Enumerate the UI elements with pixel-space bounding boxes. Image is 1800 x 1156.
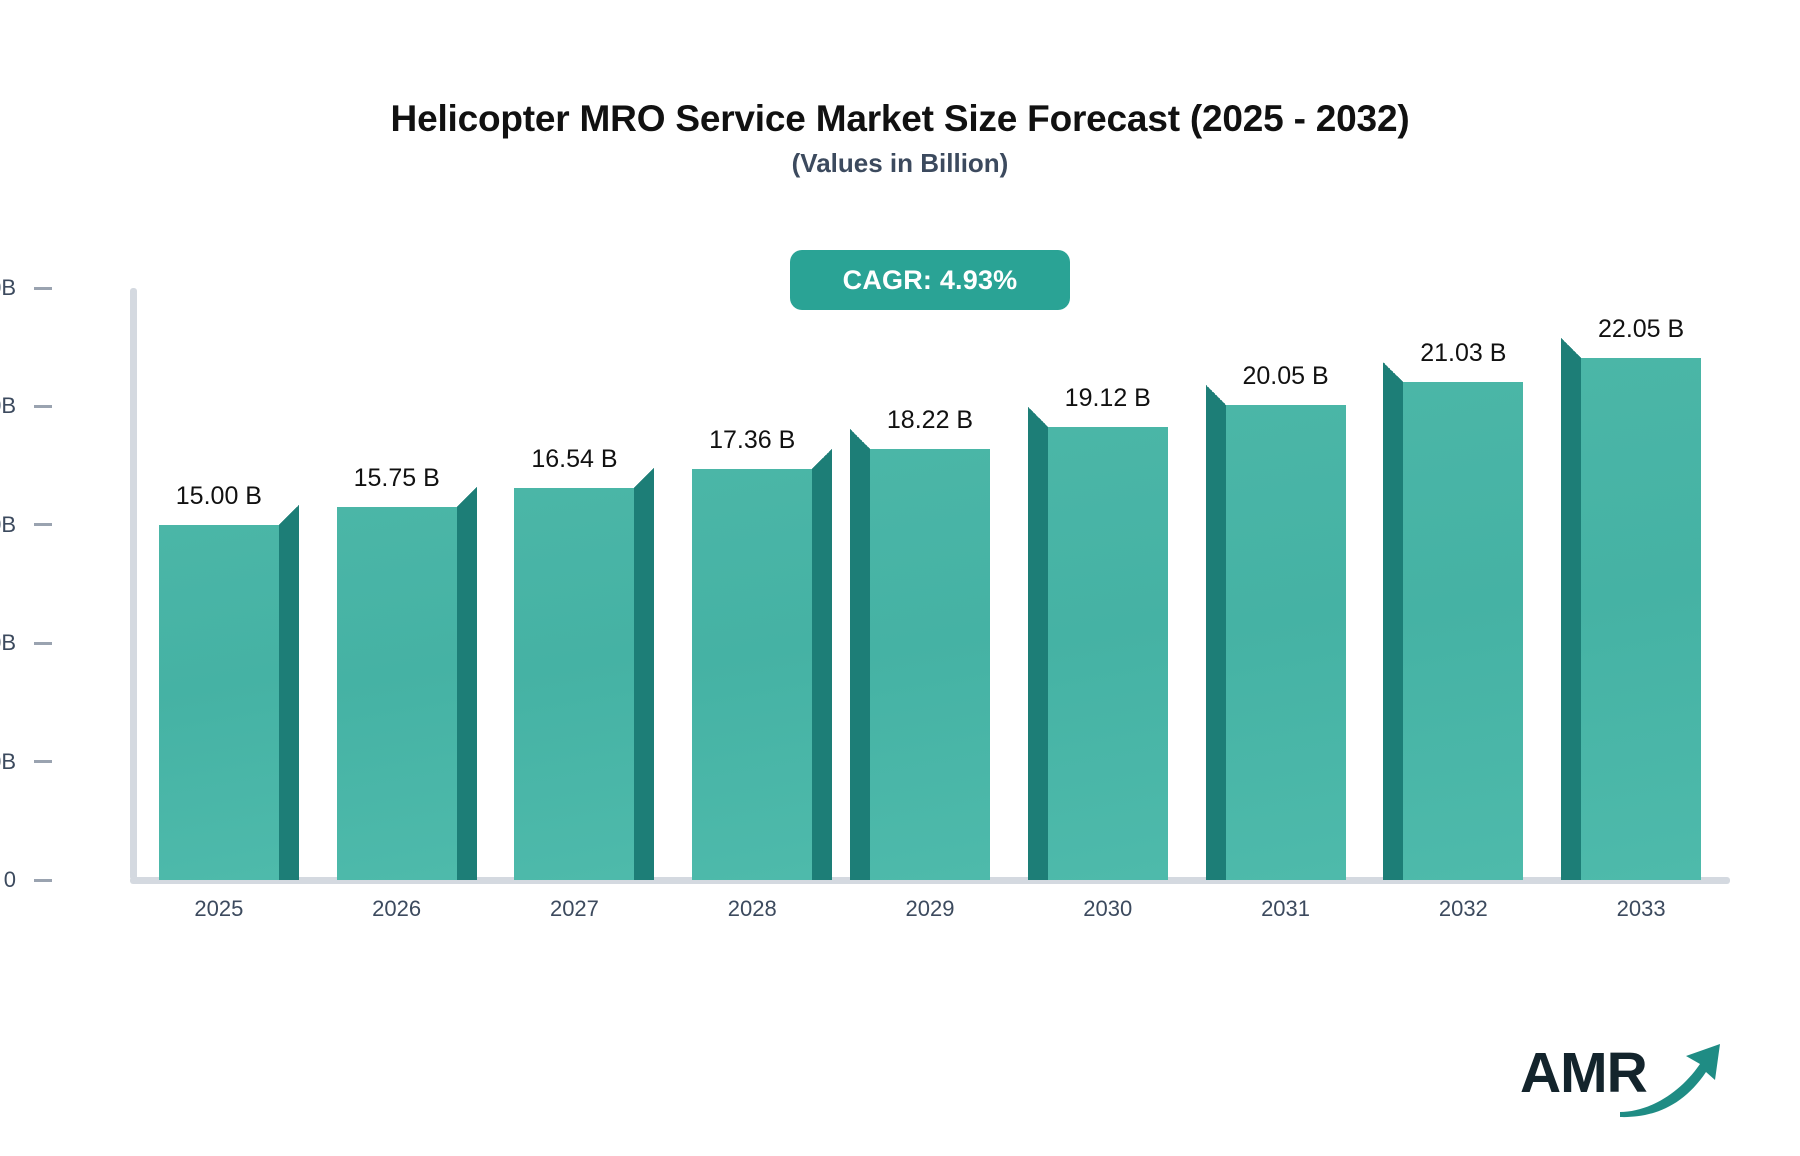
bar-value-label: 15.75 B: [354, 464, 440, 493]
x-axis-tick-label: 2026: [372, 896, 421, 922]
y-axis-tick: 25.0B: [0, 275, 52, 301]
bar[interactable]: 16.54 B: [514, 488, 634, 880]
y-axis-tick-mark: [34, 642, 52, 645]
bar-side-face: [1383, 382, 1403, 880]
bar-side-face: [850, 449, 870, 880]
bar[interactable]: 22.05 B: [1581, 358, 1701, 880]
bar-front-face: [1226, 405, 1346, 880]
bar-front-face: [1048, 427, 1168, 880]
y-axis-tick: 20.0B: [0, 393, 52, 419]
y-axis-tick: 10.0B: [0, 630, 52, 656]
x-axis-tick-label: 2027: [550, 896, 599, 922]
bar[interactable]: 21.03 B: [1403, 382, 1523, 880]
bar-top-bevel: [457, 487, 477, 507]
y-axis-tick-label: 25.0B: [0, 275, 16, 300]
bar-top-bevel: [634, 468, 654, 488]
y-axis-tick-mark: [34, 523, 52, 526]
bar-top-bevel: [1028, 407, 1048, 427]
bar-top-bevel: [1561, 338, 1581, 358]
bar-side-face: [279, 525, 299, 880]
y-axis-tick: 15.0B: [0, 512, 52, 538]
y-axis-tick-mark: [34, 879, 52, 882]
bar-value-label: 16.54 B: [531, 445, 617, 474]
y-axis-tick-mark: [34, 760, 52, 763]
bar-top-bevel: [850, 429, 870, 449]
bar-side-face: [1028, 427, 1048, 880]
bar-top-bevel: [1206, 385, 1226, 405]
bar-value-label: 22.05 B: [1598, 315, 1684, 344]
bar-value-label: 17.36 B: [709, 426, 795, 455]
amr-logo: AMR: [1520, 1032, 1720, 1122]
y-axis-tick-label: 20.0B: [0, 393, 16, 418]
x-axis-tick-label: 2028: [728, 896, 777, 922]
bar-side-face: [812, 469, 832, 880]
bar[interactable]: 19.12 B: [1048, 427, 1168, 880]
x-axis-tick-label: 2031: [1261, 896, 1310, 922]
chart-subtitle: (Values in Billion): [0, 148, 1800, 179]
bar-side-face: [634, 488, 654, 880]
bar-front-face: [692, 469, 812, 880]
plot-area: 25.0B20.0B15.0B10.0B5.0B0 15.00 B15.75 B…: [130, 288, 1730, 880]
bar-top-bevel: [812, 449, 832, 469]
bar-front-face: [1581, 358, 1701, 880]
y-axis-tick-label: 10.0B: [0, 630, 16, 655]
bar-value-label: 18.22 B: [887, 406, 973, 435]
bar-side-face: [457, 507, 477, 880]
bar-value-label: 20.05 B: [1242, 362, 1328, 391]
y-axis-tick-mark: [34, 405, 52, 408]
y-axis-tick-mark: [34, 287, 52, 290]
y-axis-tick: 0: [0, 867, 52, 893]
bar[interactable]: 15.75 B: [337, 507, 457, 880]
y-axis-tick-label: 15.0B: [0, 512, 16, 537]
bar-front-face: [159, 525, 279, 880]
bar[interactable]: 20.05 B: [1226, 405, 1346, 880]
bar-top-bevel: [279, 505, 299, 525]
x-axis-tick-label: 2032: [1439, 896, 1488, 922]
bar-side-face: [1561, 358, 1581, 880]
bar[interactable]: 15.00 B: [159, 525, 279, 880]
y-axis-line: [130, 288, 137, 880]
chart-title: Helicopter MRO Service Market Size Forec…: [0, 98, 1800, 140]
y-axis-tick-label: 5.0B: [0, 749, 16, 774]
bar-top-bevel: [1383, 362, 1403, 382]
bar-front-face: [514, 488, 634, 880]
arrow-up-right-icon: [1616, 1038, 1726, 1123]
x-axis-tick-label: 2033: [1617, 896, 1666, 922]
y-axis-tick: 5.0B: [0, 749, 52, 775]
bar-value-label: 15.00 B: [176, 482, 262, 511]
bar-front-face: [870, 449, 990, 880]
x-axis-tick-label: 2025: [194, 896, 243, 922]
y-axis-tick-label: 0: [4, 867, 16, 892]
bar[interactable]: 18.22 B: [870, 449, 990, 880]
x-axis-tick-label: 2030: [1083, 896, 1132, 922]
bar-value-label: 21.03 B: [1420, 339, 1506, 368]
bar-value-label: 19.12 B: [1065, 384, 1151, 413]
bar[interactable]: 17.36 B: [692, 469, 812, 880]
chart-page: Helicopter MRO Service Market Size Forec…: [0, 0, 1800, 1156]
bar-front-face: [1403, 382, 1523, 880]
x-axis-tick-label: 2029: [906, 896, 955, 922]
bar-side-face: [1206, 405, 1226, 880]
bar-front-face: [337, 507, 457, 880]
